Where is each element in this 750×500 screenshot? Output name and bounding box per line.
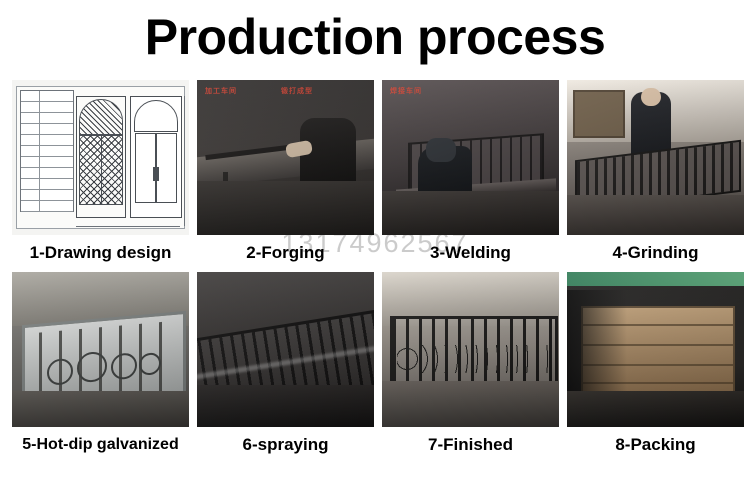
process-steps-grid: 1-Drawing design 加工车间 锻打成型 2-Forging [12,80,738,463]
step-caption: 8-Packing [567,427,744,464]
spraying-photo [197,272,374,427]
page-title: Production process [0,0,750,62]
finished-photo [382,272,559,427]
process-step-7: 7-Finished [382,272,559,464]
process-step-8: 8-Packing [567,272,744,464]
process-step-4: 4-Grinding [567,80,744,272]
process-step-2: 加工车间 锻打成型 2-Forging [197,80,374,272]
grinding-photo [567,80,744,235]
step-caption: 7-Finished [382,427,559,464]
step-caption: 5-Hot-dip galvanized [12,427,189,463]
production-process-poster: Production process 13174962567 [0,0,750,500]
step-caption: 3-Welding [382,235,559,272]
process-row-bottom: 5-Hot-dip galvanized 6-spraying [12,272,738,464]
process-row-top: 1-Drawing design 加工车间 锻打成型 2-Forging [12,80,738,272]
process-step-1: 1-Drawing design [12,80,189,272]
process-step-5: 5-Hot-dip galvanized [12,272,189,464]
step-caption: 6-spraying [197,427,374,464]
galvanizing-photo [12,272,189,427]
step-caption: 1-Drawing design [12,235,189,272]
step-caption: 2-Forging [197,235,374,272]
process-step-6: 6-spraying [197,272,374,464]
packing-photo [567,272,744,427]
forging-photo: 加工车间 锻打成型 [197,80,374,235]
welding-photo: 焊接车间 [382,80,559,235]
process-step-3: 焊接车间 3-Welding [382,80,559,272]
cad-drawing-photo [12,80,189,235]
step-caption: 4-Grinding [567,235,744,272]
